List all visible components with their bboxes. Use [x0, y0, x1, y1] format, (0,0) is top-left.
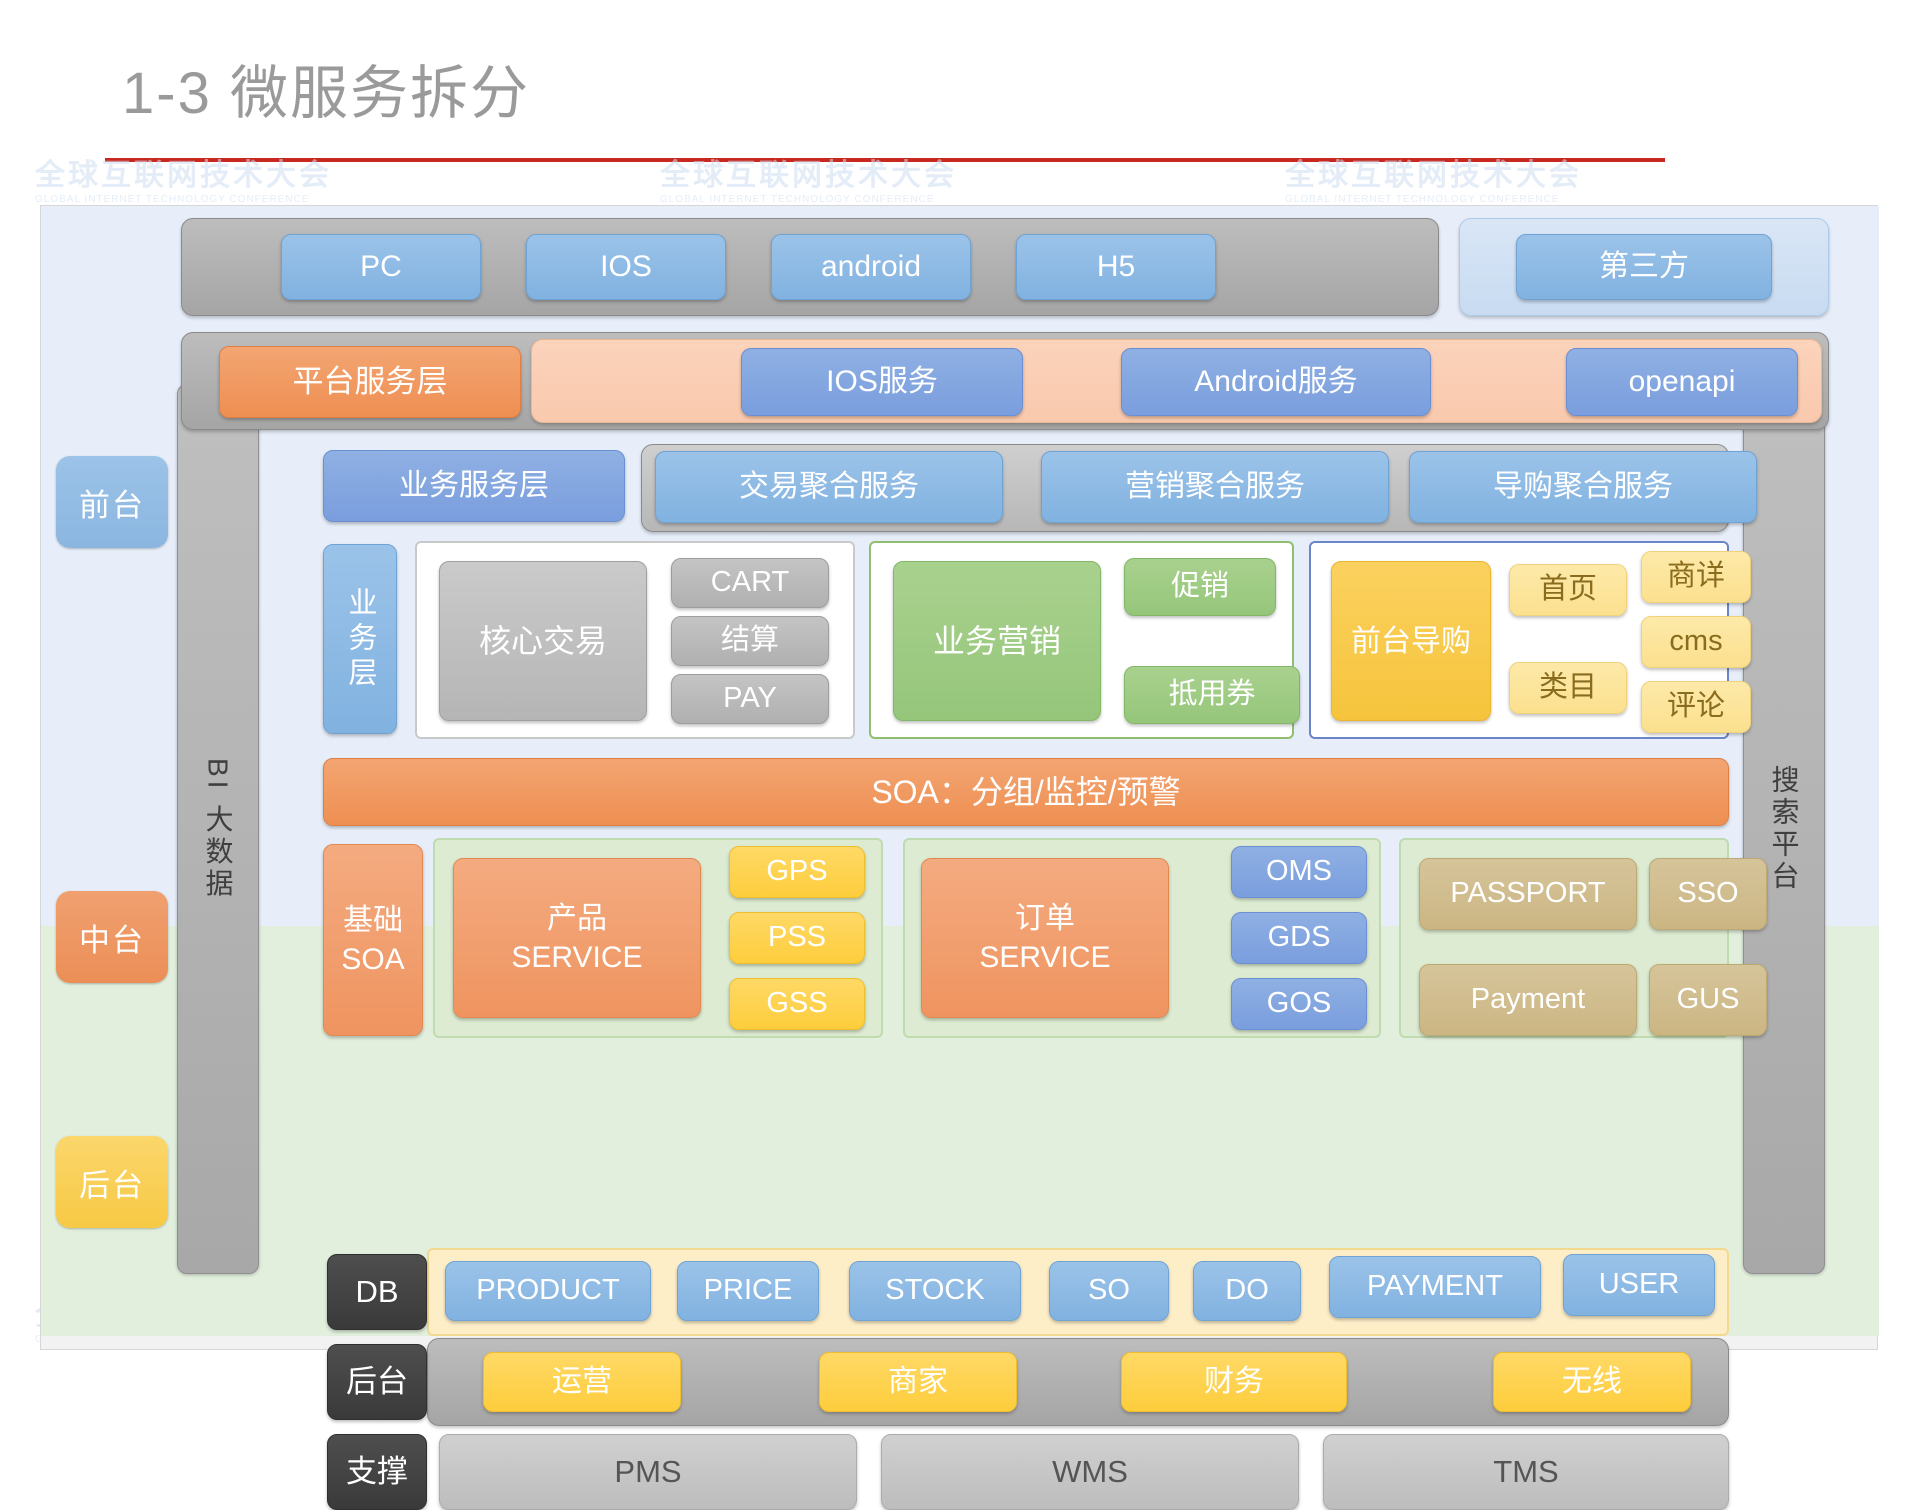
node-payment-service[interactable]: Payment — [1419, 964, 1637, 1036]
platform-service-ios[interactable]: IOS服务 — [741, 348, 1023, 416]
node-business-marketing[interactable]: 业务营销 — [893, 561, 1101, 721]
title-underline — [105, 158, 1665, 162]
column-bi-bigdata: BI 大数据 — [177, 384, 259, 1274]
node-item-detail[interactable]: 商详 — [1641, 551, 1751, 603]
node-order-service[interactable]: 订单 SERVICE — [921, 858, 1169, 1018]
node-base-soa[interactable]: 基础 SOA — [323, 844, 423, 1036]
soa-bar: SOA：分组/监控/预警 — [323, 758, 1729, 826]
aggregate-service-trade[interactable]: 交易聚合服务 — [655, 451, 1003, 523]
backoffice-merchant[interactable]: 商家 — [819, 1352, 1017, 1412]
db-do[interactable]: DO — [1193, 1261, 1301, 1321]
node-oms[interactable]: OMS — [1231, 846, 1367, 898]
client-android[interactable]: android — [771, 234, 971, 300]
aggregate-service-marketing[interactable]: 营销聚合服务 — [1041, 451, 1389, 523]
client-ios[interactable]: IOS — [526, 234, 726, 300]
node-passport[interactable]: PASSPORT — [1419, 858, 1637, 930]
db-product[interactable]: PRODUCT — [445, 1261, 651, 1321]
support-tms[interactable]: TMS — [1323, 1434, 1729, 1510]
support-pms[interactable]: PMS — [439, 1434, 857, 1510]
backoffice-finance[interactable]: 财务 — [1121, 1352, 1347, 1412]
node-homepage[interactable]: 首页 — [1509, 564, 1627, 616]
node-gds[interactable]: GDS — [1231, 912, 1367, 964]
db-stock[interactable]: STOCK — [849, 1261, 1021, 1321]
page-title: 1-3 微服务拆分 — [122, 46, 530, 130]
db-user[interactable]: USER — [1563, 1254, 1715, 1316]
aggregate-service-guide[interactable]: 导购聚合服务 — [1409, 451, 1757, 523]
node-sso[interactable]: SSO — [1649, 858, 1767, 930]
tier-label-midend: 中台 — [56, 891, 168, 983]
db-so[interactable]: SO — [1049, 1261, 1169, 1321]
platform-service-android[interactable]: Android服务 — [1121, 348, 1431, 416]
title-area: 1-3 微服务拆分 — [0, 0, 1919, 170]
backoffice-tag: 后台 — [327, 1344, 427, 1420]
node-review[interactable]: 评论 — [1641, 681, 1751, 733]
node-cms[interactable]: cms — [1641, 616, 1751, 668]
platform-service-openapi[interactable]: openapi — [1566, 348, 1798, 416]
node-gus[interactable]: GUS — [1649, 964, 1767, 1036]
platform-service-layer-title: 平台服务层 — [219, 346, 521, 418]
node-pss[interactable]: PSS — [729, 912, 865, 964]
node-coupon[interactable]: 抵用券 — [1124, 666, 1300, 724]
architecture-diagram: 前台 中台 后台 BI 大数据 搜索平台 PC IOS android H5 第… — [40, 205, 1878, 1350]
db-payment[interactable]: PAYMENT — [1329, 1256, 1541, 1318]
backoffice-operations[interactable]: 运营 — [483, 1352, 681, 1412]
support-wms[interactable]: WMS — [881, 1434, 1299, 1510]
node-front-guide[interactable]: 前台导购 — [1331, 561, 1491, 721]
business-layer-tab: 业务层 — [323, 544, 397, 734]
tier-label-backend: 后台 — [56, 1136, 168, 1228]
node-settlement[interactable]: 结算 — [671, 616, 829, 666]
db-price[interactable]: PRICE — [677, 1261, 819, 1321]
node-pay[interactable]: PAY — [671, 674, 829, 724]
node-gos[interactable]: GOS — [1231, 978, 1367, 1030]
client-third-party[interactable]: 第三方 — [1516, 234, 1772, 300]
backoffice-wireless[interactable]: 无线 — [1493, 1352, 1691, 1412]
node-promotion[interactable]: 促销 — [1124, 558, 1276, 616]
support-tag: 支撑 — [327, 1434, 427, 1510]
client-h5[interactable]: H5 — [1016, 234, 1216, 300]
client-pc[interactable]: PC — [281, 234, 481, 300]
node-gps[interactable]: GPS — [729, 846, 865, 898]
node-product-service[interactable]: 产品 SERVICE — [453, 858, 701, 1018]
node-core-trade[interactable]: 核心交易 — [439, 561, 647, 721]
business-service-layer-title: 业务服务层 — [323, 450, 625, 522]
node-category[interactable]: 类目 — [1509, 662, 1627, 714]
node-gss[interactable]: GSS — [729, 978, 865, 1030]
tier-label-frontend: 前台 — [56, 456, 168, 548]
db-tag: DB — [327, 1254, 427, 1330]
node-cart[interactable]: CART — [671, 558, 829, 608]
